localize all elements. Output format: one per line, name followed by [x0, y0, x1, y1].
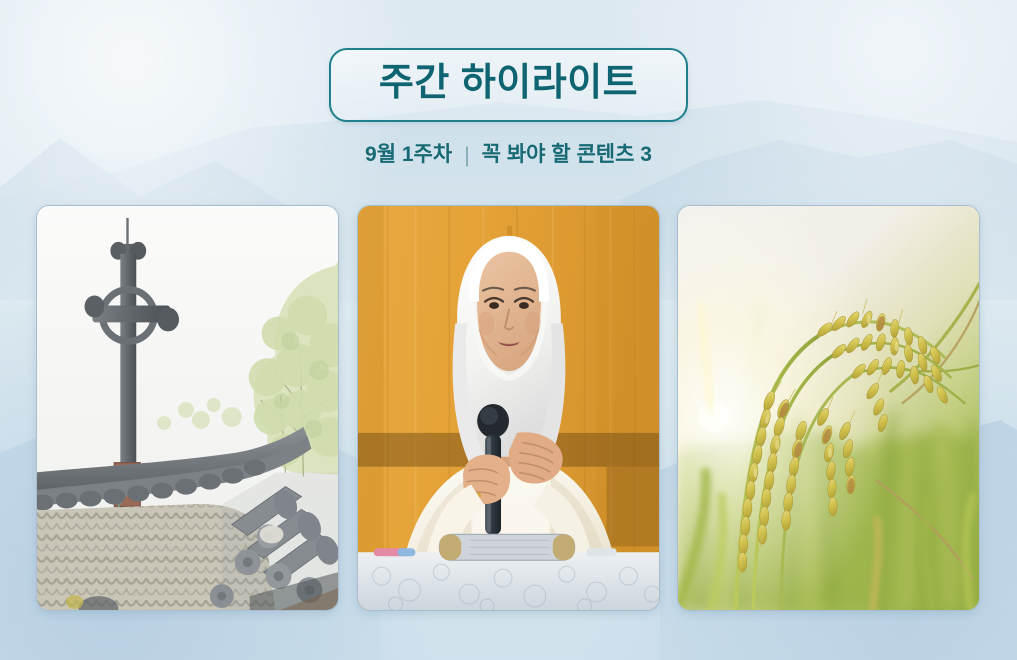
card-image-church-roof: [37, 206, 338, 610]
subtitle-separator: |: [464, 145, 469, 166]
poster-subtitle: 9월 1주차|꼭 봐야 할 콘텐츠 3: [0, 144, 1017, 165]
page-title: 주간 하이라이트: [379, 64, 638, 102]
highlight-card-list: [0, 205, 1017, 611]
card-image-rice-field: [678, 206, 979, 610]
highlight-card-nun-speaker[interactable]: [357, 205, 660, 611]
highlight-card-rice-field[interactable]: [677, 205, 980, 611]
title-badge: 주간 하이라이트: [329, 48, 688, 122]
highlight-poster: 주간 하이라이트 9월 1주차|꼭 봐야 할 콘텐츠 3: [0, 0, 1017, 660]
subtitle-tagline: 꼭 봐야 할 콘텐츠 3: [482, 143, 652, 166]
poster-header: 주간 하이라이트 9월 1주차|꼭 봐야 할 콘텐츠 3: [0, 0, 1017, 165]
card-image-nun-speaker: [358, 206, 659, 610]
subtitle-period: 9월 1주차: [365, 143, 452, 166]
highlight-card-church-roof[interactable]: [36, 205, 339, 611]
